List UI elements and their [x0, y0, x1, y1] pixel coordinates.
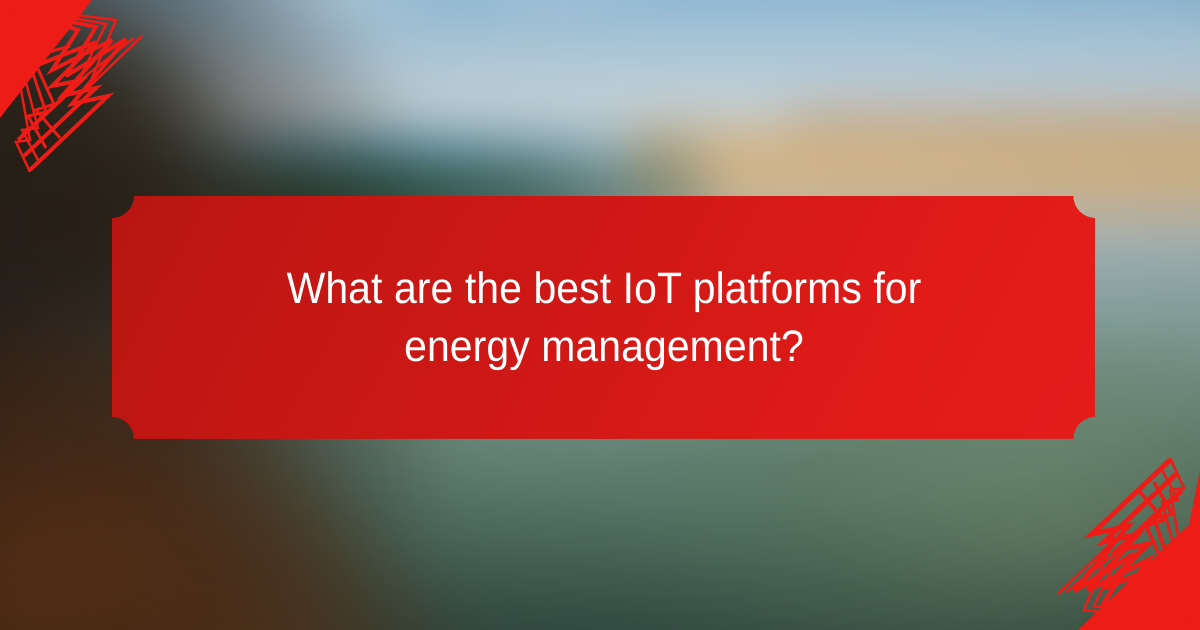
social-card: What are the best IoT platforms for ener… — [0, 0, 1200, 630]
page-title: What are the best IoT platforms for ener… — [218, 260, 990, 374]
title-banner: What are the best IoT platforms for ener… — [112, 196, 1095, 439]
